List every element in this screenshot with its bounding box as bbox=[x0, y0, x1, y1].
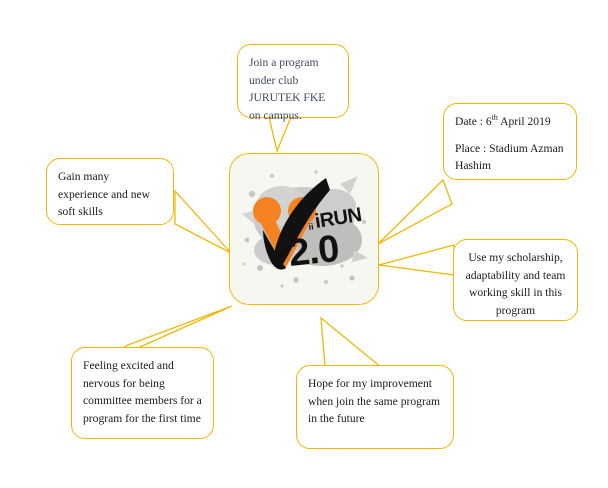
svg-text:2.0: 2.0 bbox=[287, 228, 341, 275]
callout-hope-improvement-text: Hope for my improvement when join the sa… bbox=[308, 375, 442, 428]
callout-use-scholarship-text: Use my scholarship, adaptability and tea… bbox=[465, 249, 566, 319]
irun-logo-graphic: ii iRUN 2.0 bbox=[230, 154, 378, 304]
callout-join-program: Join a program under club JURUTEK FKE on… bbox=[237, 44, 349, 118]
callout-join-program-text: Join a program under club JURUTEK FKE on… bbox=[249, 54, 337, 124]
date-label: Date : bbox=[455, 115, 486, 128]
mindmap-canvas: ii iRUN 2.0 Join a program under club JU… bbox=[0, 0, 608, 488]
tail-use-scholarship bbox=[379, 245, 454, 275]
callout-gain-experience: Gain many experience and new soft skills bbox=[46, 158, 174, 225]
callout-gain-experience-text: Gain many experience and new soft skills bbox=[58, 168, 162, 221]
callout-date-line: Date : 6th April 2019 bbox=[455, 113, 565, 131]
callout-date-place: Date : 6th April 2019 Place : Stadium Az… bbox=[443, 103, 577, 180]
callout-hope-improvement: Hope for my improvement when join the sa… bbox=[296, 365, 454, 449]
callout-feeling-excited-text: Feeling excited and nervous for being co… bbox=[83, 357, 202, 427]
callout-feeling-excited: Feeling excited and nervous for being co… bbox=[71, 347, 214, 439]
callout-use-scholarship: Use my scholarship, adaptability and tea… bbox=[453, 239, 578, 321]
tail-date-place bbox=[378, 180, 452, 244]
callout-place-text: Place : Stadium Azman Hashim bbox=[455, 140, 565, 175]
logo-version-text: 2.0 bbox=[287, 228, 341, 275]
date-rest: April 2019 bbox=[498, 115, 551, 128]
irun-logo-tile: ii iRUN 2.0 bbox=[229, 153, 379, 305]
tail-gain-experience bbox=[175, 191, 231, 253]
